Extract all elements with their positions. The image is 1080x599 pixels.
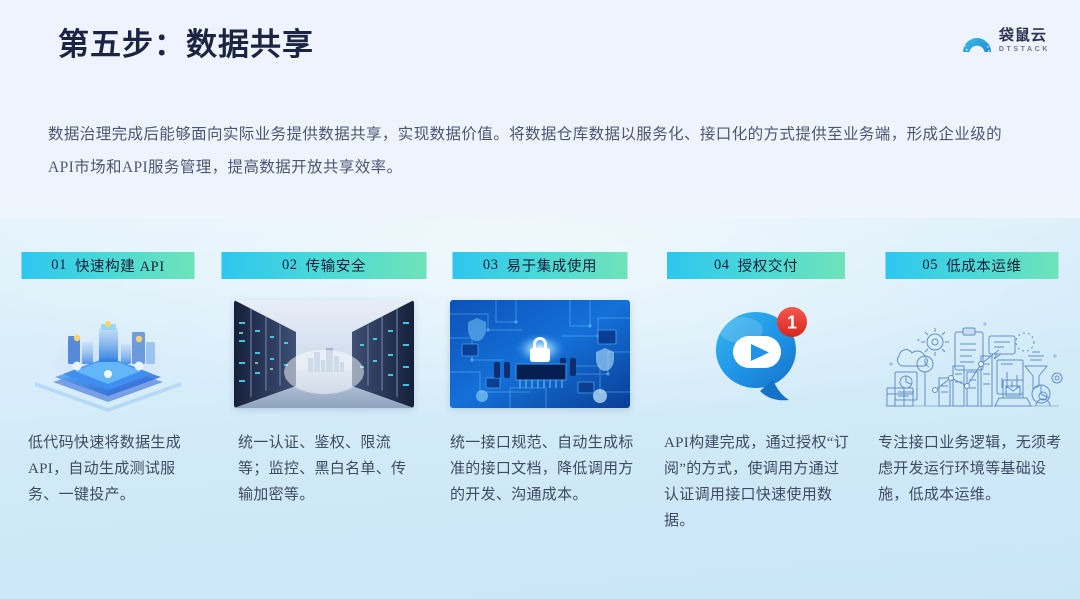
notification-badge-count: 1 <box>787 313 797 333</box>
column-01: 01 快速构建 API <box>0 218 216 599</box>
isometric-data-platform-illustration <box>13 294 203 419</box>
column-05: 05 低成本运维 <box>864 218 1080 599</box>
business-analytics-line-art <box>877 294 1067 419</box>
brand-logo: 袋鼠云 DTSTACK <box>962 27 1050 53</box>
logo-name-cn: 袋鼠云 <box>999 28 1050 43</box>
column-art-02 <box>216 294 432 424</box>
column-number-02: 02 <box>282 257 298 274</box>
column-number-04: 04 <box>714 257 730 274</box>
column-header-03[interactable]: 03 易于集成使用 <box>453 252 628 279</box>
intro-paragraph: 数据治理完成后能够面向实际业务提供数据共享，实现数据价值。将数据仓库数据以服务化… <box>48 118 1028 184</box>
column-art-03 <box>432 294 648 424</box>
column-04: 04 授权交付 <box>648 218 864 599</box>
columns-container: 01 快速构建 API <box>0 218 1080 599</box>
circuit-board-security-photo <box>450 300 630 408</box>
column-label-01: 快速构建 API <box>75 255 165 276</box>
kangaroo-cloud-logo-icon <box>962 27 992 53</box>
logo-name-en: DTSTACK <box>999 46 1050 53</box>
column-art-04: 1 <box>648 294 864 424</box>
column-number-03: 03 <box>483 257 499 274</box>
column-number-01: 01 <box>51 257 67 274</box>
column-header-05[interactable]: 05 低成本运维 <box>886 252 1059 279</box>
column-label-03: 易于集成使用 <box>507 255 598 276</box>
column-art-05 <box>864 294 1080 424</box>
column-header-01[interactable]: 01 快速构建 API <box>22 252 195 279</box>
column-caption-02: 统一认证、鉴权、限流等；监控、黑白名单、传输加密等。 <box>216 430 432 508</box>
slide-canvas: 第五步：数据共享 <box>0 0 1080 599</box>
column-caption-01: 低代码快速将数据生成API，自动生成测试服务、一键投产。 <box>0 430 216 508</box>
column-caption-04: API构建完成，通过授权“订阅”的方式，使调用方通过认证调用接口快速使用数据。 <box>648 430 864 534</box>
column-caption-03: 统一接口规范、自动生成标准的接口文档，降低调用方的开发、沟通成本。 <box>432 430 648 508</box>
page-title: 第五步：数据共享 <box>58 26 314 65</box>
column-caption-05: 专注接口业务逻辑，无须考虑开发运行环境等基础设施，低成本运维。 <box>864 430 1080 508</box>
logo-wordmark: 袋鼠云 DTSTACK <box>999 28 1050 53</box>
server-room-photo <box>234 300 414 408</box>
column-header-04[interactable]: 04 授权交付 <box>667 252 845 279</box>
column-02: 02 传输安全 <box>216 218 432 599</box>
column-label-05: 低成本运维 <box>946 255 1022 276</box>
chat-bubble-play-icon: 1 <box>661 294 851 419</box>
column-art-01 <box>0 294 216 424</box>
column-header-02[interactable]: 02 传输安全 <box>222 252 427 279</box>
column-03: 03 易于集成使用 <box>432 218 648 599</box>
column-label-02: 传输安全 <box>306 255 366 276</box>
column-number-05: 05 <box>922 257 938 274</box>
column-label-04: 授权交付 <box>738 255 798 276</box>
